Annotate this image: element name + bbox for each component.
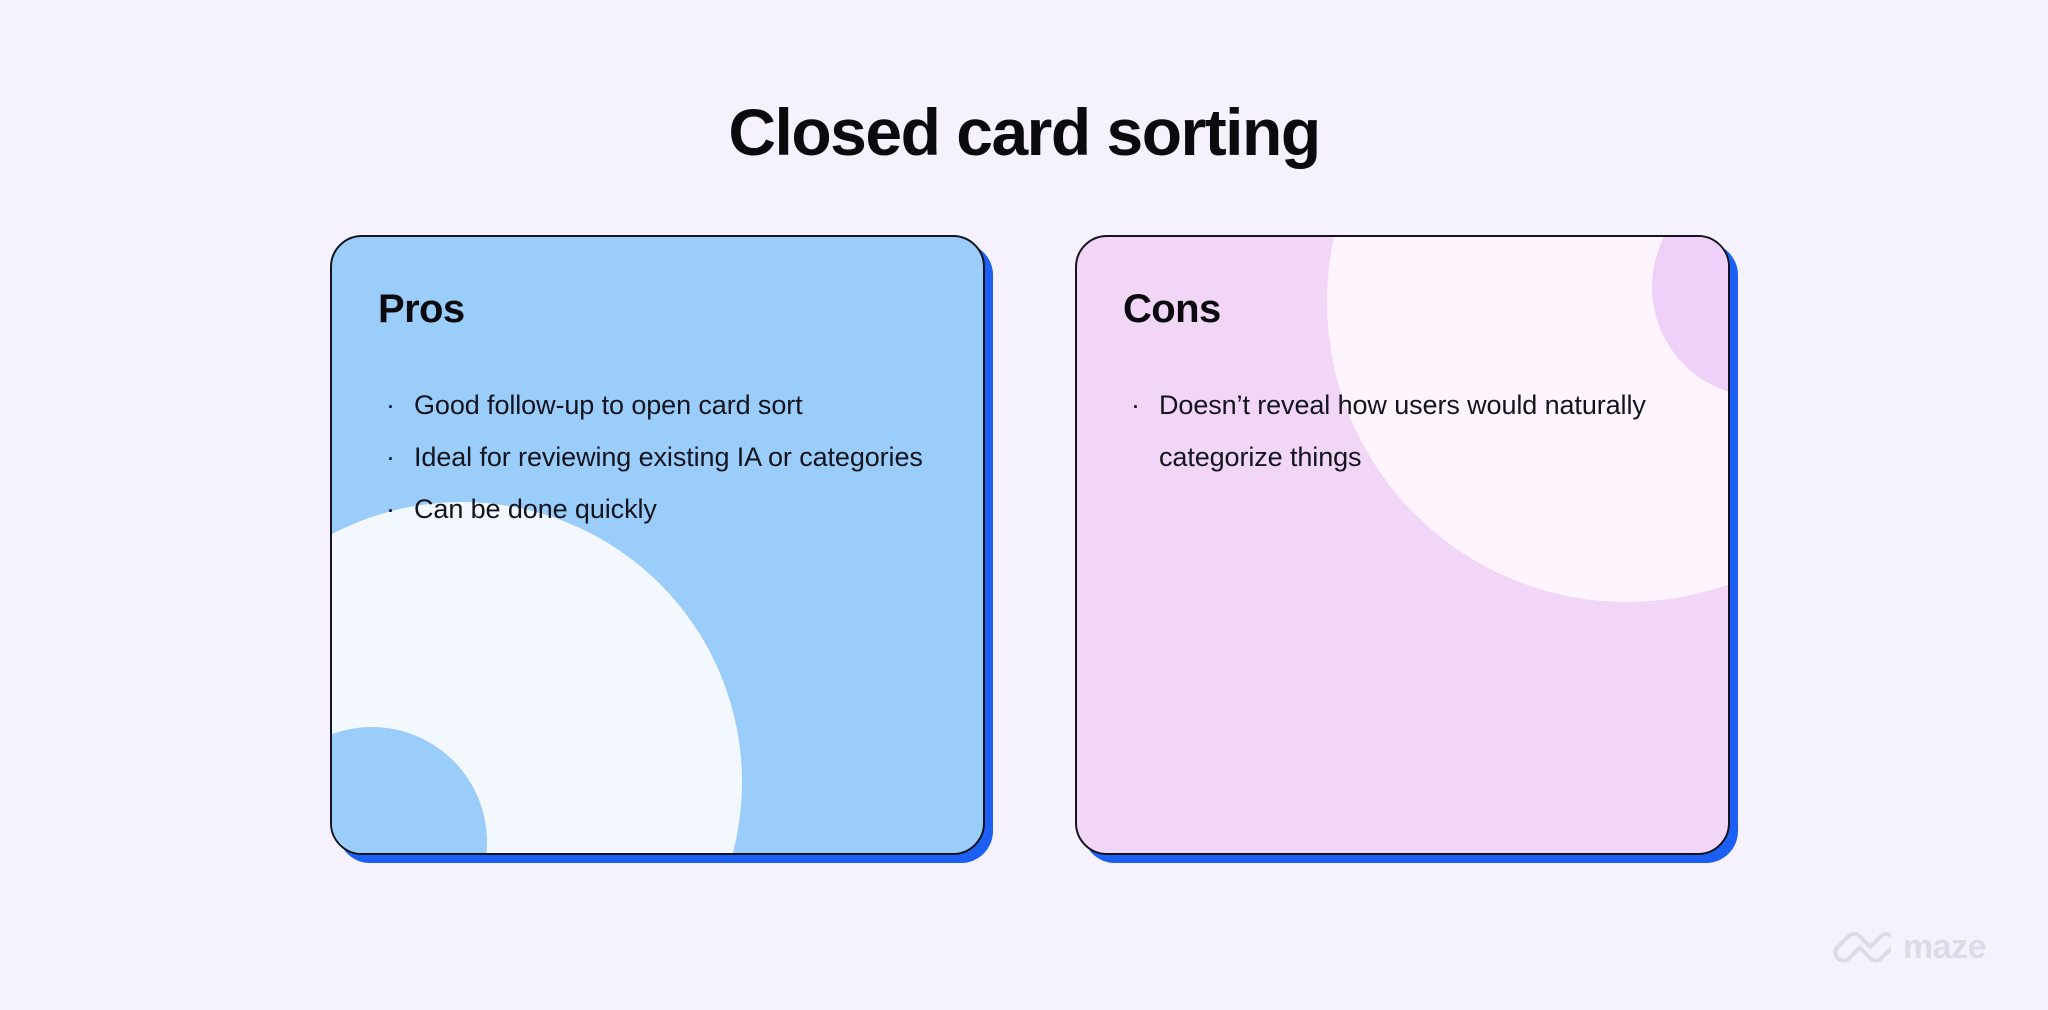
maze-wordmark: maze: [1903, 930, 1986, 964]
pros-decorative-circle-white: [330, 502, 742, 855]
cons-heading: Cons: [1123, 285, 1682, 333]
comparison-cards: Pros · Good follow-up to open card sort …: [330, 235, 1730, 865]
pros-list: · Good follow-up to open card sort · Ide…: [378, 379, 937, 535]
list-item: · Can be done quickly: [378, 483, 937, 535]
pros-card-content: Pros · Good follow-up to open card sort …: [332, 237, 983, 535]
cons-card-content: Cons · Doesn’t reveal how users would na…: [1077, 237, 1728, 483]
pros-card-surface: Pros · Good follow-up to open card sort …: [330, 235, 985, 855]
slide-canvas: Closed card sorting Pros · Good follow-u…: [0, 0, 2048, 1010]
bullet-icon: ·: [386, 379, 395, 431]
list-item: · Good follow-up to open card sort: [378, 379, 937, 431]
list-item-text: Good follow-up to open card sort: [414, 390, 803, 420]
bullet-icon: ·: [1131, 379, 1140, 431]
list-item-text: Ideal for reviewing existing IA or categ…: [414, 442, 923, 472]
bullet-icon: ·: [386, 483, 395, 535]
pros-decorative-circle-blue: [330, 727, 487, 855]
pros-heading: Pros: [378, 285, 937, 333]
maze-logo: maze: [1833, 930, 1986, 964]
list-item: · Doesn’t reveal how users would natural…: [1123, 379, 1682, 483]
pros-card: Pros · Good follow-up to open card sort …: [330, 235, 985, 855]
list-item-text: Can be done quickly: [414, 494, 657, 524]
cons-card: Cons · Doesn’t reveal how users would na…: [1075, 235, 1730, 855]
maze-arch-icon: [1833, 930, 1891, 964]
cons-card-surface: Cons · Doesn’t reveal how users would na…: [1075, 235, 1730, 855]
page-title: Closed card sorting: [0, 96, 2048, 169]
list-item: · Ideal for reviewing existing IA or cat…: [378, 431, 937, 483]
list-item-text: Doesn’t reveal how users would naturally…: [1159, 390, 1646, 472]
cons-list: · Doesn’t reveal how users would natural…: [1123, 379, 1682, 483]
bullet-icon: ·: [386, 431, 395, 483]
